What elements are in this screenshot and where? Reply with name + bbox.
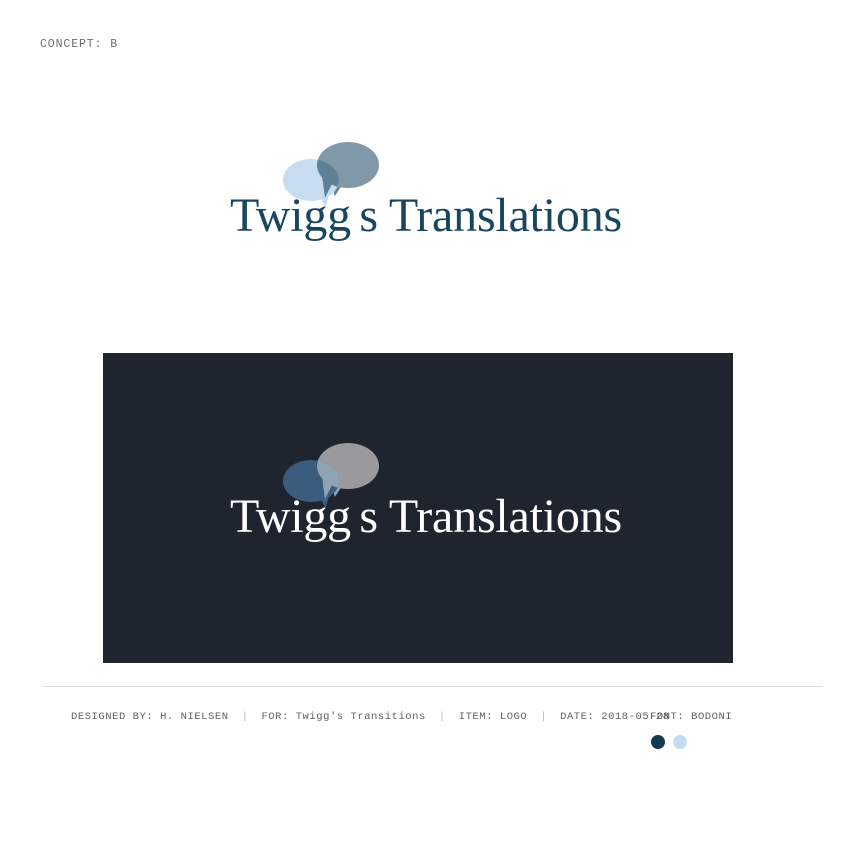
logo-concept-sheet: { "sheet": { "concept_label": "CONCEPT: … xyxy=(0,0,843,842)
meta-for: FOR: Twigg's Transitions xyxy=(261,711,425,723)
wordmark-light: Twigg's Translations xyxy=(211,192,641,240)
wordmark-part-2: s Translations xyxy=(359,490,622,543)
wordmark-part-2: s Translations xyxy=(359,189,622,242)
concept-label: CONCEPT: B xyxy=(40,38,118,51)
meta-font-note: FONT: BODONI xyxy=(650,711,732,723)
speech-bubble-front-body xyxy=(283,159,339,201)
meta-item-type: ITEM: LOGO xyxy=(459,711,528,723)
swatch-primary-navy xyxy=(651,735,665,749)
footer-meta-row: DESIGNED BY: H. NIELSEN | FOR: Twigg's T… xyxy=(71,711,670,723)
logo-lockup-dark: Twigg's Translations xyxy=(211,441,641,561)
meta-separator: | xyxy=(527,711,560,723)
footer-divider xyxy=(42,686,823,687)
color-palette-swatches xyxy=(651,735,687,749)
speech-bubble-front xyxy=(283,159,339,201)
speech-bubble-front-body xyxy=(283,460,339,502)
logo-lockup-light: Twigg's Translations xyxy=(211,140,641,260)
meta-designed-by: DESIGNED BY: H. NIELSEN xyxy=(71,711,229,723)
wordmark-dark: Twigg's Translations xyxy=(211,493,641,541)
meta-separator: | xyxy=(229,711,262,723)
speech-bubble-front xyxy=(283,460,339,502)
swatch-accent-light-blue xyxy=(673,735,687,749)
meta-separator: | xyxy=(426,711,459,723)
dark-variant-panel: Twigg's Translations xyxy=(103,353,733,663)
